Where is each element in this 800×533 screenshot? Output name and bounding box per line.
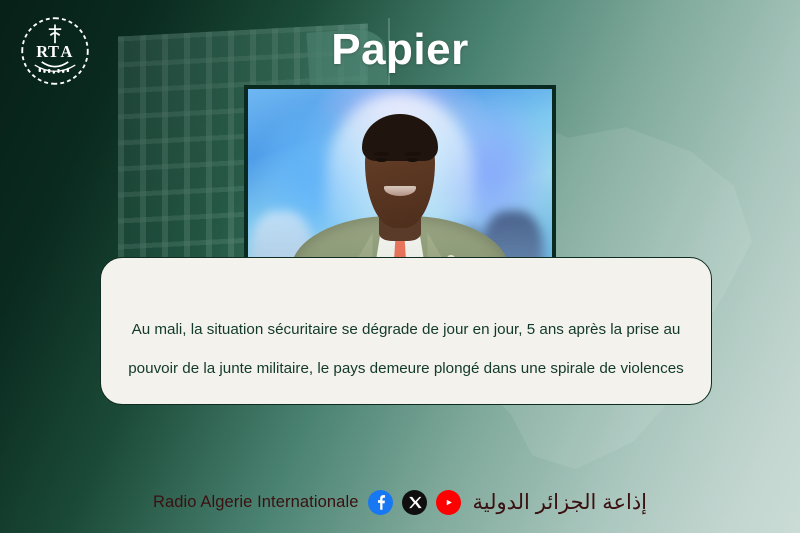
article-line-2: pouvoir de la junte militaire, le pays d… — [115, 361, 697, 376]
article-line-1: Au mali, la situation sécuritaire se dég… — [115, 322, 697, 337]
article-text-card: Au mali, la situation sécuritaire se dég… — [100, 257, 712, 405]
footer-name-french: Radio Algerie Internationale — [153, 493, 359, 512]
subject-eye-right — [407, 158, 418, 163]
page-title: Papier — [0, 28, 800, 72]
footer-name-arabic: إذاعة الجزائر الدولية — [473, 490, 648, 515]
subject-eyebrow-left — [374, 152, 389, 155]
poster-canvas: R T A Papier — [0, 0, 800, 533]
x-twitter-icon[interactable] — [402, 490, 427, 515]
facebook-icon[interactable] — [368, 490, 393, 515]
footer-bar: Radio Algerie Internationale إذاعة الجزا… — [0, 490, 800, 515]
youtube-icon[interactable] — [436, 490, 461, 515]
subject-eyebrow-right — [405, 152, 420, 155]
